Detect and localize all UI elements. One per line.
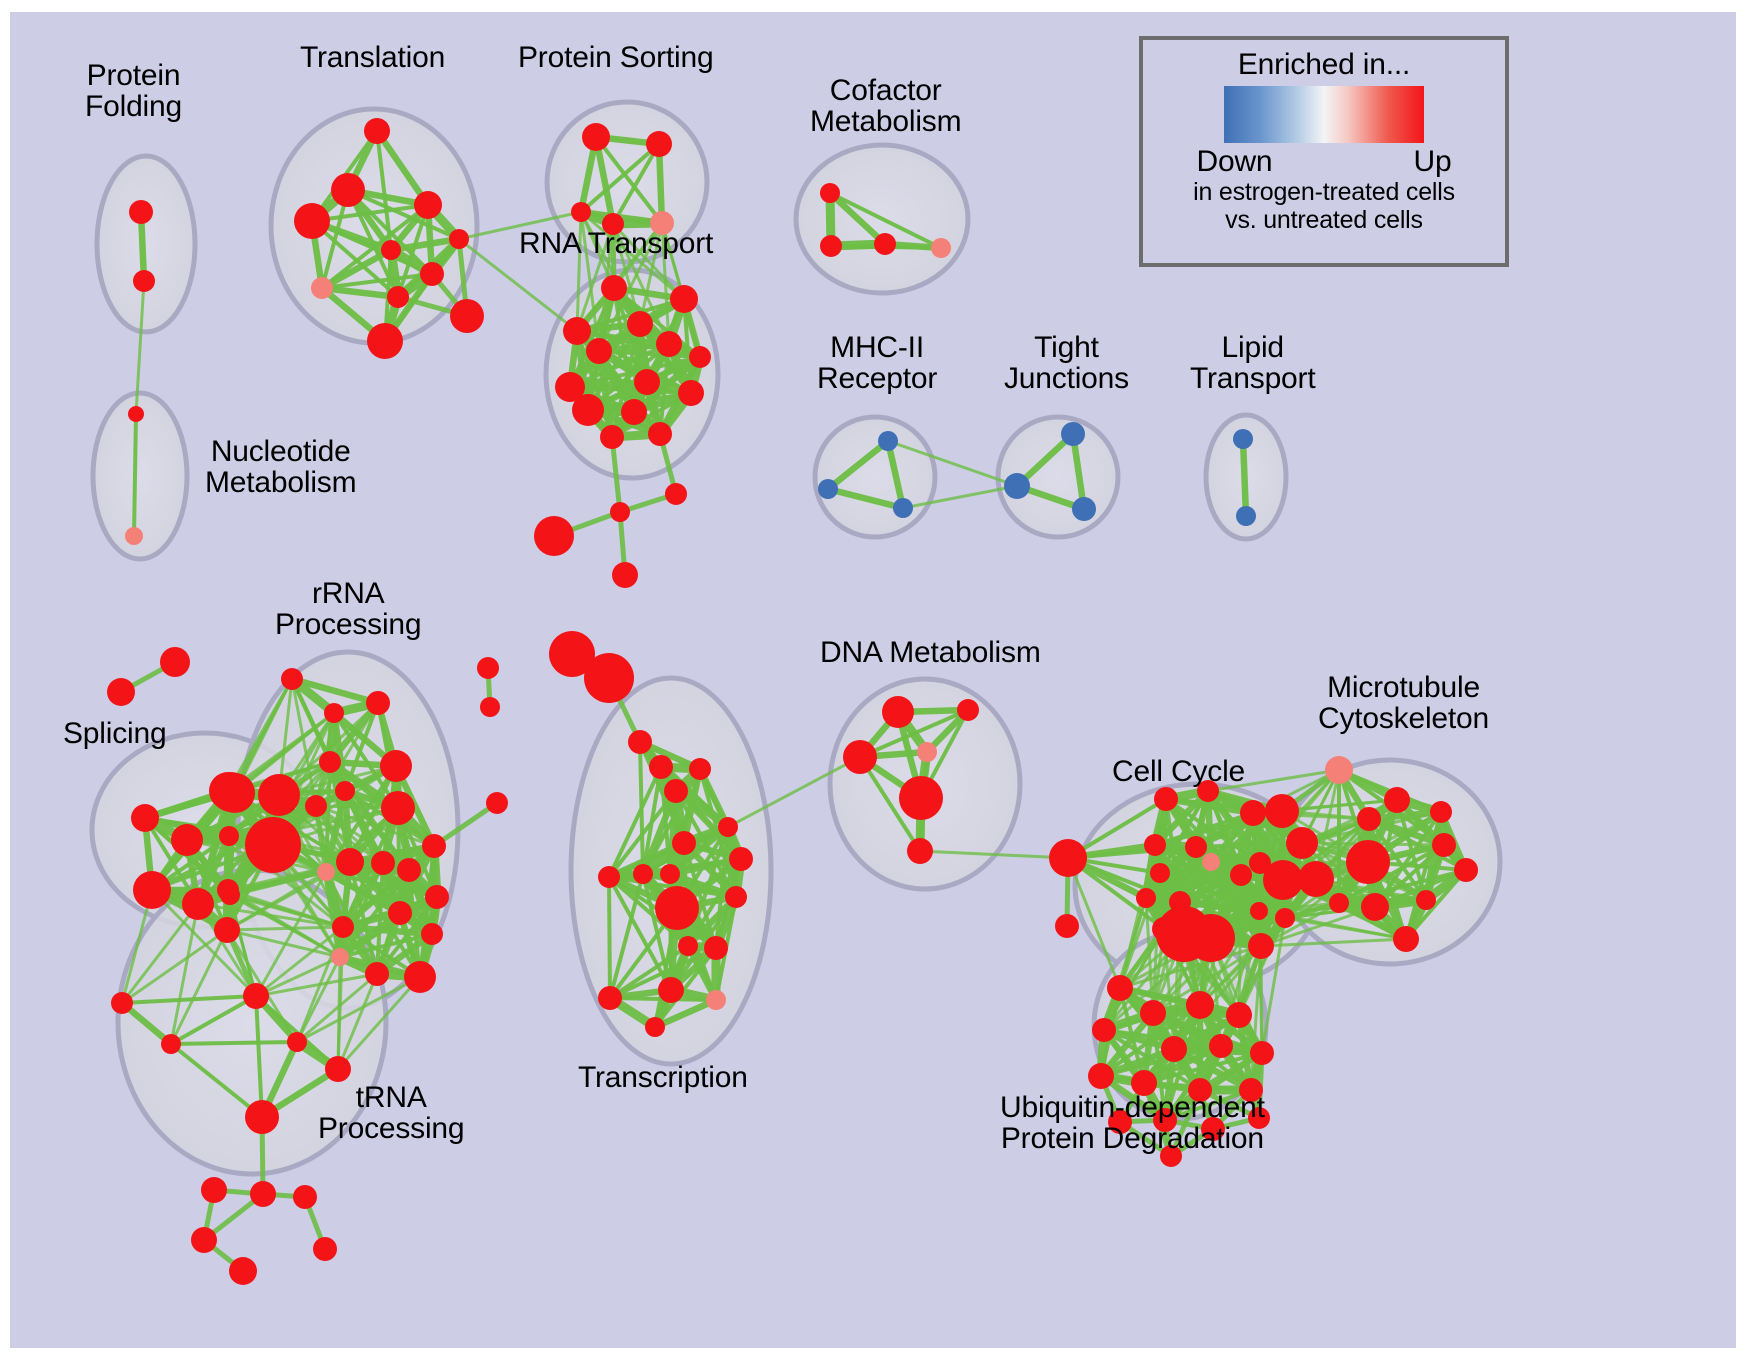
- network-node: [331, 173, 365, 207]
- network-node: [129, 200, 153, 224]
- network-figure: Protein FoldingTranslationProtein Sortin…: [0, 0, 1750, 1360]
- network-node: [1236, 506, 1256, 526]
- network-node: [1061, 422, 1085, 446]
- network-node: [258, 774, 300, 816]
- network-node: [397, 858, 421, 882]
- cluster-label: Transcription: [578, 1062, 748, 1093]
- network-node: [1454, 858, 1478, 882]
- network-node: [1361, 893, 1389, 921]
- network-node: [1186, 991, 1214, 1019]
- network-node: [534, 516, 574, 556]
- network-node: [672, 831, 696, 855]
- cluster-label: Splicing: [63, 718, 166, 749]
- network-node: [1430, 801, 1452, 823]
- cluster-label: Cell Cycle: [1112, 756, 1245, 787]
- network-node: [480, 697, 500, 717]
- cluster-label: Microtubule Cytoskeleton: [1318, 672, 1489, 734]
- network-node: [957, 699, 979, 721]
- network-node: [1209, 1034, 1233, 1058]
- network-node: [281, 668, 303, 690]
- network-node: [325, 1056, 351, 1082]
- network-node: [125, 527, 143, 545]
- network-node: [899, 776, 943, 820]
- network-node: [331, 948, 349, 966]
- network-node: [449, 229, 469, 249]
- network-node: [689, 346, 711, 368]
- legend-title: Enriched in...: [1238, 48, 1410, 82]
- network-node: [107, 678, 135, 706]
- network-node: [319, 751, 341, 773]
- network-node: [380, 750, 412, 782]
- network-node: [621, 399, 647, 425]
- cluster-label: Protein Folding: [85, 60, 182, 122]
- network-node: [572, 394, 604, 426]
- network-node: [387, 286, 409, 308]
- cluster-label: MHC-II Receptor: [817, 332, 937, 394]
- network-node: [1092, 1018, 1116, 1042]
- cluster-label: tRNA Processing: [318, 1082, 464, 1144]
- network-edge: [1243, 439, 1246, 516]
- legend-endpoints: Down Up: [1197, 145, 1452, 179]
- network-node: [335, 781, 355, 801]
- network-node: [128, 406, 144, 422]
- legend-up-label: Up: [1414, 145, 1452, 179]
- network-node: [612, 562, 638, 588]
- network-node: [1240, 800, 1266, 826]
- network-node: [336, 848, 364, 876]
- network-edge: [134, 414, 136, 536]
- network-node: [1088, 1063, 1114, 1089]
- network-node: [111, 992, 133, 1014]
- network-node: [718, 817, 738, 837]
- network-node: [388, 901, 412, 925]
- network-node: [214, 917, 240, 943]
- network-node: [704, 936, 728, 960]
- cluster-label: Nucleotide Metabolism: [205, 436, 356, 498]
- network-node: [882, 696, 914, 728]
- network-node: [287, 1032, 307, 1052]
- network-node: [133, 270, 155, 292]
- network-edge: [609, 877, 610, 998]
- network-node: [706, 990, 726, 1010]
- network-node: [371, 851, 395, 875]
- network-node: [1346, 840, 1390, 884]
- network-node: [171, 824, 203, 856]
- network-node: [305, 795, 327, 817]
- network-node: [367, 323, 403, 359]
- network-node: [633, 864, 653, 884]
- network-node: [1004, 473, 1030, 499]
- network-node: [1250, 1041, 1274, 1065]
- network-node: [243, 983, 269, 1009]
- network-node: [332, 916, 354, 938]
- network-node: [1357, 807, 1381, 831]
- network-node: [878, 431, 898, 451]
- network-node: [655, 886, 699, 930]
- network-node: [931, 238, 951, 258]
- network-node: [1161, 1036, 1187, 1062]
- network-node: [425, 885, 449, 909]
- network-node: [1226, 1002, 1252, 1028]
- network-node: [191, 1227, 217, 1253]
- network-node: [818, 479, 838, 499]
- network-node: [689, 758, 711, 780]
- network-node: [628, 730, 652, 754]
- legend-box: Enriched in... Down Up in estrogen-treat…: [1139, 36, 1509, 267]
- network-node: [420, 262, 444, 286]
- network-node: [1384, 787, 1410, 813]
- network-node: [1233, 429, 1253, 449]
- network-node: [1150, 863, 1170, 883]
- network-node: [219, 883, 239, 903]
- network-node: [1202, 853, 1220, 871]
- cluster-label: Protein Sorting: [518, 42, 713, 73]
- network-node: [893, 498, 913, 518]
- network-node: [665, 483, 687, 505]
- network-node: [917, 742, 937, 762]
- network-node: [1055, 914, 1079, 938]
- cluster-label: Ubiquitin-dependent Protein Degradation: [1000, 1092, 1265, 1154]
- network-node: [1416, 890, 1436, 910]
- legend-caption-line1: in estrogen-treated cells: [1193, 178, 1455, 207]
- network-node: [245, 817, 301, 873]
- network-node: [598, 866, 620, 888]
- network-node: [182, 888, 214, 920]
- network-node: [404, 961, 436, 993]
- network-node: [1185, 836, 1207, 858]
- network-node: [381, 791, 415, 825]
- network-node: [1250, 902, 1268, 920]
- cluster-label: RNA Transport: [519, 228, 713, 259]
- cluster-label: Cofactor Metabolism: [810, 75, 961, 137]
- network-node: [1325, 756, 1353, 784]
- network-node: [586, 338, 612, 364]
- network-node: [160, 647, 190, 677]
- network-node: [1432, 833, 1456, 857]
- cluster-label: Tight Junctions: [1004, 332, 1129, 394]
- network-node: [1329, 893, 1349, 913]
- network-node: [1072, 497, 1096, 521]
- network-node: [1187, 914, 1235, 962]
- network-node: [627, 311, 653, 337]
- network-node: [598, 986, 622, 1010]
- network-node: [1275, 908, 1295, 928]
- cluster-label: DNA Metabolism: [820, 637, 1041, 668]
- cluster-ellipse: [815, 417, 935, 537]
- network-node: [729, 847, 753, 871]
- network-node: [1393, 926, 1419, 952]
- network-node: [311, 277, 333, 299]
- network-node: [477, 657, 499, 679]
- network-node: [600, 425, 624, 449]
- network-node: [563, 317, 591, 345]
- network-node: [209, 772, 247, 810]
- legend-down-label: Down: [1197, 145, 1273, 179]
- color-scale-bar: [1224, 86, 1424, 143]
- network-node: [317, 863, 335, 881]
- legend-caption-line2: vs. untreated cells: [1225, 206, 1423, 235]
- network-node: [245, 1100, 279, 1134]
- network-node: [1263, 860, 1303, 900]
- network-node: [365, 962, 389, 986]
- network-node: [131, 804, 159, 832]
- network-node: [1286, 827, 1318, 859]
- network-node: [874, 233, 896, 255]
- cluster-label: rRNA Processing: [275, 578, 421, 640]
- network-node: [648, 422, 672, 446]
- network-node: [1248, 933, 1274, 959]
- network-node: [645, 1017, 665, 1037]
- cluster-label: Lipid Transport: [1190, 332, 1315, 394]
- network-node: [601, 275, 627, 301]
- network-node: [1049, 839, 1087, 877]
- cluster-label: Translation: [300, 42, 445, 73]
- network-node: [1107, 975, 1133, 1001]
- network-node: [1136, 888, 1156, 908]
- network-node: [634, 369, 660, 395]
- network-node: [421, 923, 443, 945]
- network-node: [313, 1237, 337, 1261]
- network-node: [660, 864, 680, 884]
- network-node: [294, 203, 330, 239]
- network-node: [820, 235, 842, 257]
- network-node: [229, 1257, 257, 1285]
- network-node: [656, 331, 682, 357]
- network-edge: [338, 957, 340, 1069]
- network-node: [649, 755, 673, 779]
- network-node: [582, 123, 610, 151]
- network-node: [486, 792, 508, 814]
- network-node: [725, 886, 747, 908]
- network-node: [584, 653, 634, 703]
- network-node: [658, 977, 684, 1003]
- network-node: [366, 691, 390, 715]
- network-node: [678, 380, 704, 406]
- network-node: [907, 838, 933, 864]
- network-node: [678, 936, 698, 956]
- network-node: [610, 502, 630, 522]
- network-node: [450, 299, 484, 333]
- network-node: [293, 1185, 317, 1209]
- network-node: [1265, 794, 1299, 828]
- network-node: [133, 871, 171, 909]
- network-node: [664, 779, 688, 803]
- network-node: [1154, 787, 1178, 811]
- network-node: [843, 740, 877, 774]
- network-node: [201, 1177, 227, 1203]
- network-node: [1298, 861, 1334, 897]
- network-node: [646, 131, 672, 157]
- network-node: [571, 202, 591, 222]
- network-node: [1144, 834, 1166, 856]
- network-node: [1230, 864, 1252, 886]
- network-node: [324, 703, 344, 723]
- network-node: [670, 285, 698, 313]
- network-edge: [171, 1042, 297, 1044]
- cluster-ellipse: [97, 156, 195, 332]
- network-node: [381, 240, 401, 260]
- network-node: [161, 1034, 181, 1054]
- network-node: [1140, 1000, 1166, 1026]
- network-node: [364, 118, 390, 144]
- network-node: [219, 826, 239, 846]
- network-node: [422, 834, 446, 858]
- network-node: [820, 183, 840, 203]
- network-node: [414, 191, 442, 219]
- network-node: [250, 1181, 276, 1207]
